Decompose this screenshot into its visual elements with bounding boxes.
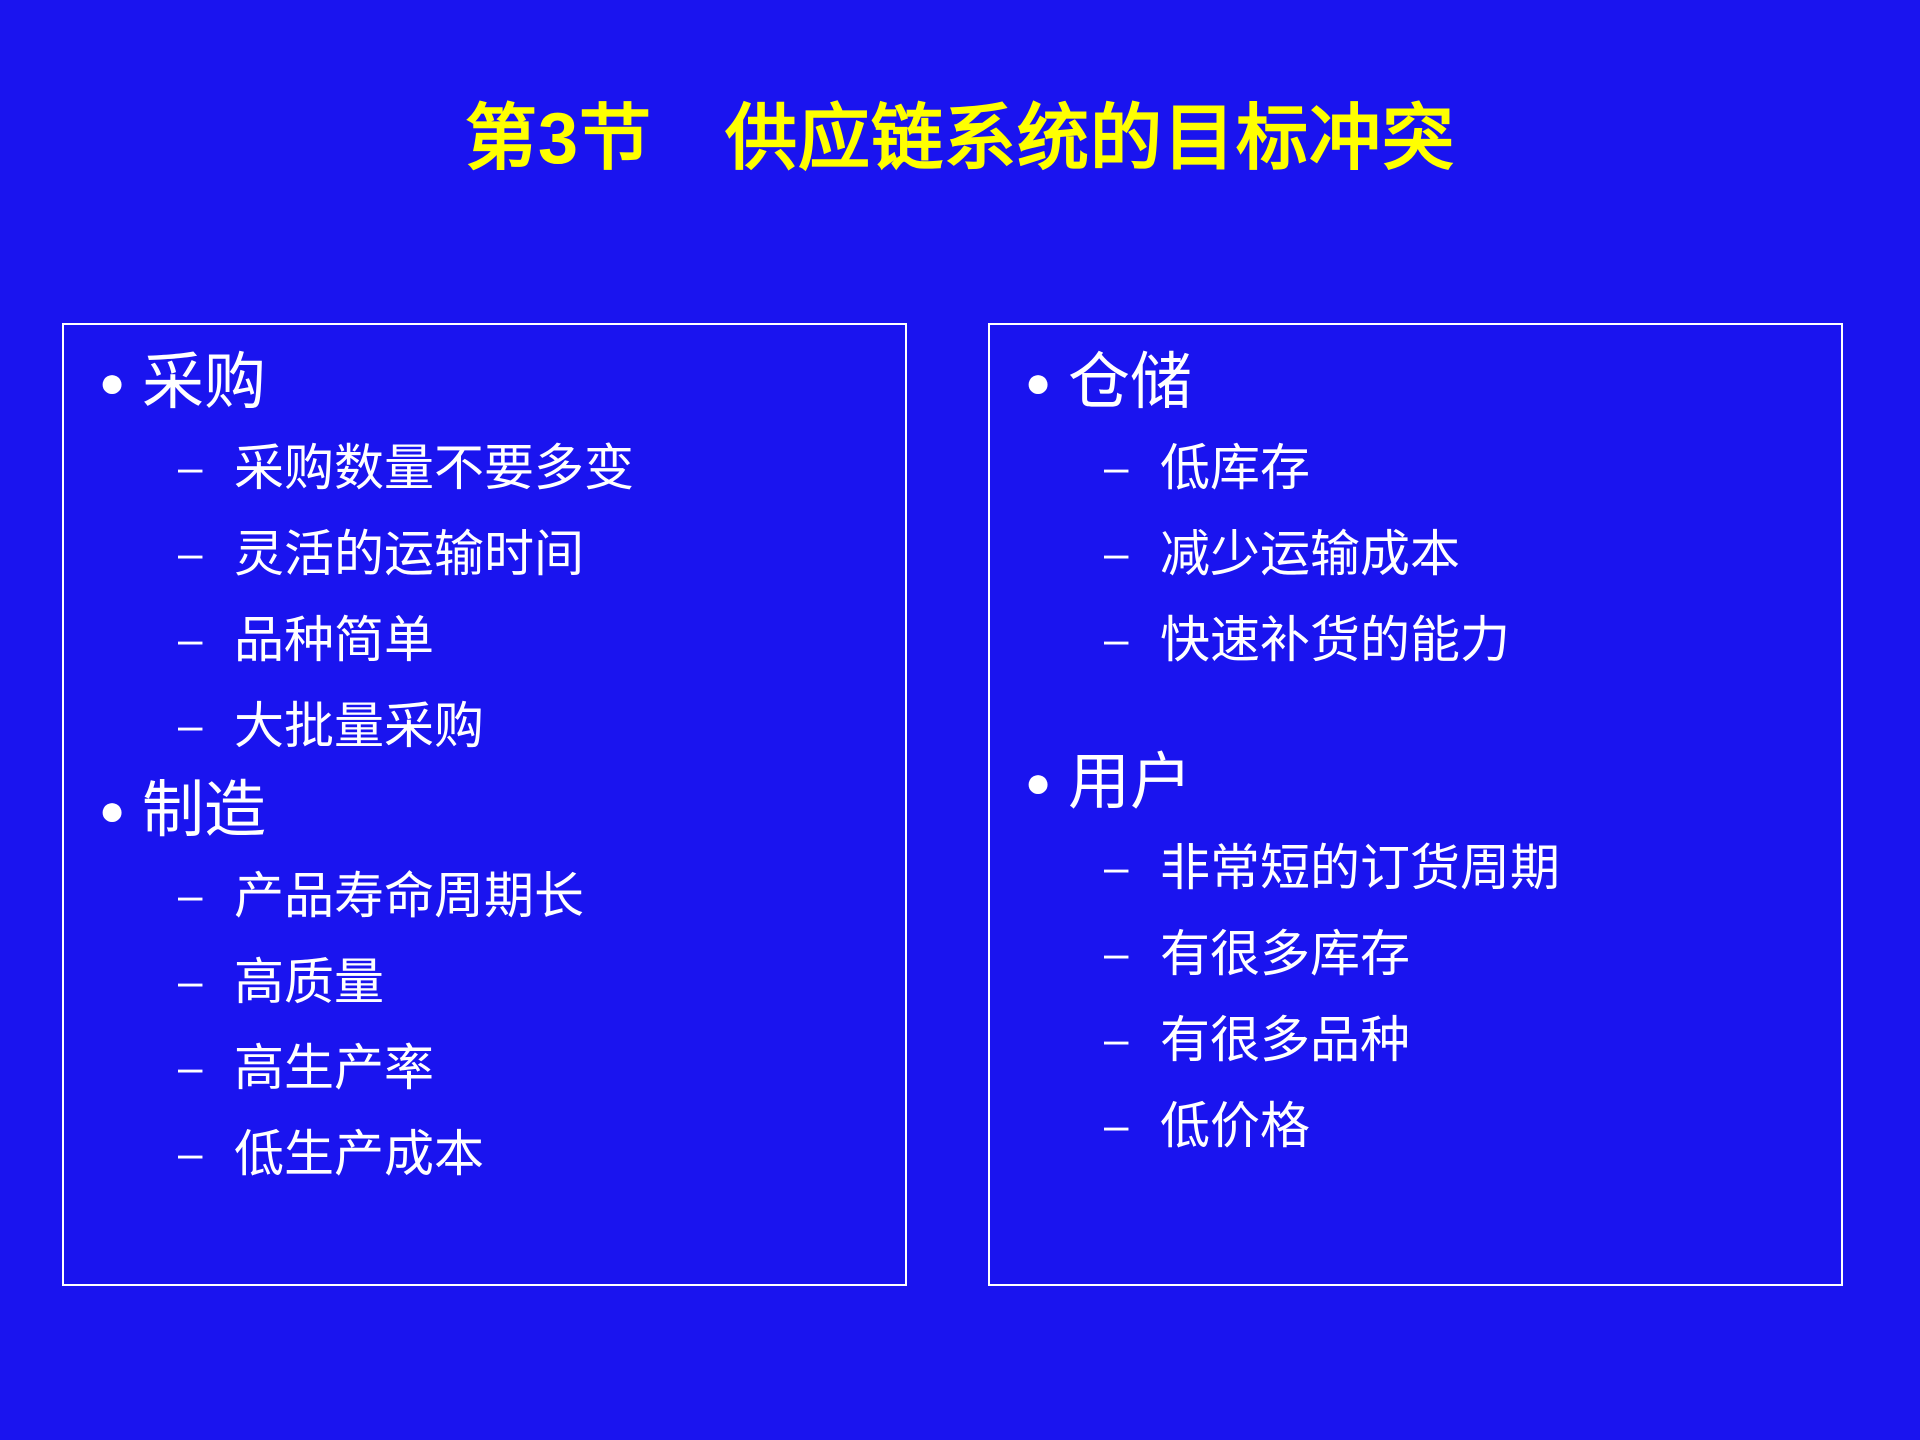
group-label: 仓储 — [1068, 341, 1192, 425]
group-header[interactable]: ● 仓储 — [990, 341, 1841, 425]
group-header[interactable]: ● 制造 — [64, 769, 905, 853]
list-item-label: 灵活的运输时间 — [234, 511, 584, 597]
right-box-inner: ● 仓储 – 低库存 – 减少运输成本 – — [990, 325, 1841, 1169]
dash-icon: – — [178, 425, 234, 511]
list-item[interactable]: – 低生产成本 — [160, 1111, 905, 1197]
list-item-label: 高质量 — [234, 939, 384, 1025]
dash-icon: – — [178, 597, 234, 683]
left-content-box: ● 采购 – 采购数量不要多变 – 灵活的运输时间 – — [62, 323, 907, 1286]
dash-icon: – — [1104, 597, 1160, 683]
bullet-icon: ● — [1008, 741, 1068, 825]
list-item[interactable]: – 有很多品种 — [1086, 997, 1841, 1083]
dash-icon: – — [178, 853, 234, 939]
list-item-label: 有很多品种 — [1160, 997, 1410, 1083]
list-item-label: 快速补货的能力 — [1160, 597, 1510, 683]
list-item-label: 非常短的订货周期 — [1160, 825, 1560, 911]
sub-item-list: – 非常短的订货周期 – 有很多库存 – 有很多品种 – — [990, 825, 1841, 1169]
page-title: 第3节 供应链系统的目标冲突 — [0, 96, 1920, 182]
list-item-label: 减少运输成本 — [1160, 511, 1460, 597]
dash-icon: – — [178, 939, 234, 1025]
list-item-label: 低库存 — [1160, 425, 1310, 511]
list-item[interactable]: – 减少运输成本 — [1086, 511, 1841, 597]
right-group-list: ● 仓储 – 低库存 – 减少运输成本 – — [990, 341, 1841, 1169]
sub-item-list: – 采购数量不要多变 – 灵活的运输时间 – 品种简单 – — [64, 425, 905, 769]
dash-icon: – — [178, 1111, 234, 1197]
bullet-icon: ● — [82, 341, 142, 425]
list-item[interactable]: – 品种简单 — [160, 597, 905, 683]
sub-item-list: – 低库存 – 减少运输成本 – 快速补货的能力 — [990, 425, 1841, 683]
dash-icon: – — [178, 1025, 234, 1111]
list-item-label: 品种简单 — [234, 597, 434, 683]
list-item[interactable]: – 非常短的订货周期 — [1086, 825, 1841, 911]
list-item[interactable]: – 有很多库存 — [1086, 911, 1841, 997]
list-item[interactable]: – 大批量采购 — [160, 683, 905, 769]
bullet-icon: ● — [1008, 341, 1068, 425]
bullet-icon: ● — [82, 769, 142, 853]
dash-icon: – — [1104, 997, 1160, 1083]
group-spacer — [990, 683, 1841, 741]
group-header[interactable]: ● 采购 — [64, 341, 905, 425]
list-item[interactable]: – 采购数量不要多变 — [160, 425, 905, 511]
group-manufacturing: ● 制造 – 产品寿命周期长 – 高质量 – — [64, 769, 905, 1197]
right-content-box: ● 仓储 – 低库存 – 减少运输成本 – — [988, 323, 1843, 1286]
list-item[interactable]: – 低价格 — [1086, 1083, 1841, 1169]
dash-icon: – — [178, 511, 234, 597]
list-item-label: 有很多库存 — [1160, 911, 1410, 997]
left-group-list: ● 采购 – 采购数量不要多变 – 灵活的运输时间 – — [64, 341, 905, 1197]
list-item[interactable]: – 高生产率 — [160, 1025, 905, 1111]
dash-icon: – — [1104, 425, 1160, 511]
list-item[interactable]: – 快速补货的能力 — [1086, 597, 1841, 683]
dash-icon: – — [1104, 825, 1160, 911]
list-item-label: 高生产率 — [234, 1025, 434, 1111]
left-box-inner: ● 采购 – 采购数量不要多变 – 灵活的运输时间 – — [64, 325, 905, 1197]
list-item[interactable]: – 灵活的运输时间 — [160, 511, 905, 597]
list-item-label: 大批量采购 — [234, 683, 484, 769]
dash-icon: – — [1104, 911, 1160, 997]
group-label: 制造 — [142, 769, 266, 853]
dash-icon: – — [1104, 1083, 1160, 1169]
dash-icon: – — [1104, 511, 1160, 597]
dash-icon: – — [178, 683, 234, 769]
list-item-label: 产品寿命周期长 — [234, 853, 584, 939]
group-customer: ● 用户 – 非常短的订货周期 – 有很多库存 – — [990, 741, 1841, 1169]
sub-item-list: – 产品寿命周期长 – 高质量 – 高生产率 – — [64, 853, 905, 1197]
group-warehousing: ● 仓储 – 低库存 – 减少运输成本 – — [990, 341, 1841, 683]
list-item[interactable]: – 高质量 — [160, 939, 905, 1025]
list-item-label: 低生产成本 — [234, 1111, 484, 1197]
list-item-label: 低价格 — [1160, 1083, 1310, 1169]
slide-canvas: 第3节 供应链系统的目标冲突 ● 采购 – 采购数量不要多变 – — [0, 0, 1920, 1440]
group-label: 用户 — [1068, 741, 1192, 825]
group-label: 采购 — [142, 341, 266, 425]
group-header[interactable]: ● 用户 — [990, 741, 1841, 825]
list-item[interactable]: – 产品寿命周期长 — [160, 853, 905, 939]
group-purchasing: ● 采购 – 采购数量不要多变 – 灵活的运输时间 – — [64, 341, 905, 769]
list-item[interactable]: – 低库存 — [1086, 425, 1841, 511]
list-item-label: 采购数量不要多变 — [234, 425, 634, 511]
